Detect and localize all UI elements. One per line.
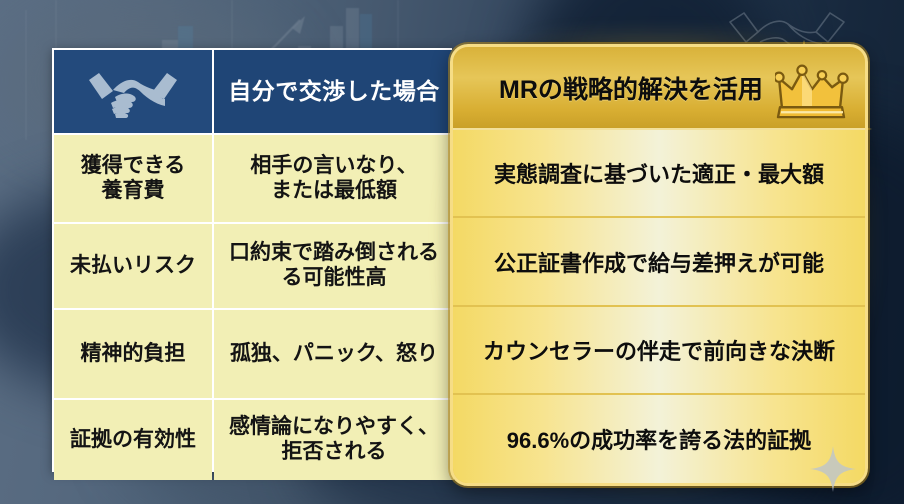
gold-panel-header-label: MRの戦略的解決を活用 [499, 70, 819, 106]
gold-panel-body: MRの戦略的解決を活用 実態調査に基づいた適正・最大額 公正証書作成で給与差押え… [450, 44, 868, 486]
gold-panel-header: MRの戦略的解決を活用 [453, 47, 865, 130]
row-value-1-line-2: または最低額 [271, 179, 397, 202]
row-value-4: 感情論になりやすく、 拒否される [214, 400, 454, 480]
row-value-4-line-2: 拒否される [282, 440, 387, 463]
row-value-1: 相手の言いなり、 または最低額 [214, 135, 454, 222]
row-label-3: 精神的負担 [54, 310, 212, 398]
row-label-1-line-1: 獲得できる [81, 154, 186, 177]
row-value-3: 孤独、パニック、怒り [214, 310, 454, 398]
row-label-1: 獲得できる 養育費 [54, 135, 212, 222]
gold-panel: MRの戦略的解決を活用 実態調査に基づいた適正・最大額 公正証書作成で給与差押え… [450, 44, 868, 486]
crown-icon [775, 62, 849, 118]
gold-panel-row-3: カウンセラーの伴走で前向きな決断 [453, 307, 865, 395]
self-negotiation-header: 自分で交渉した場合 [214, 50, 454, 133]
row-value-4-line-1: 感情論になりやすく、 [229, 415, 439, 438]
slide-canvas: 自分で交渉した場合 獲得できる 養育費 相手の言いなり、 または最低額 未払いリ… [0, 0, 904, 504]
row-label-1-line-2: 養育費 [102, 179, 165, 202]
handshake-icon [85, 66, 181, 118]
row-label-4: 証拠の有効性 [54, 400, 212, 480]
row-value-2-line-1: 口約束で踏み倒される [229, 241, 439, 264]
row-label-2: 未払いリスク [54, 224, 212, 308]
gold-panel-row-4: 96.6%の成功率を誇る法的証拠 [453, 395, 865, 483]
row-value-2: 口約束で踏み倒される る可能性高 [214, 224, 454, 308]
handshake-header-cell [54, 50, 212, 133]
gold-panel-row-2: 公正証書作成で給与差押えが可能 [453, 218, 865, 306]
row-value-1-line-1: 相手の言いなり、 [250, 154, 417, 177]
gold-panel-row-1: 実態調査に基づいた適正・最大額 [453, 130, 865, 218]
comparison-table: 自分で交渉した場合 獲得できる 養育費 相手の言いなり、 または最低額 未払いリ… [52, 48, 452, 472]
row-value-2-line-2: る可能性高 [282, 266, 387, 289]
